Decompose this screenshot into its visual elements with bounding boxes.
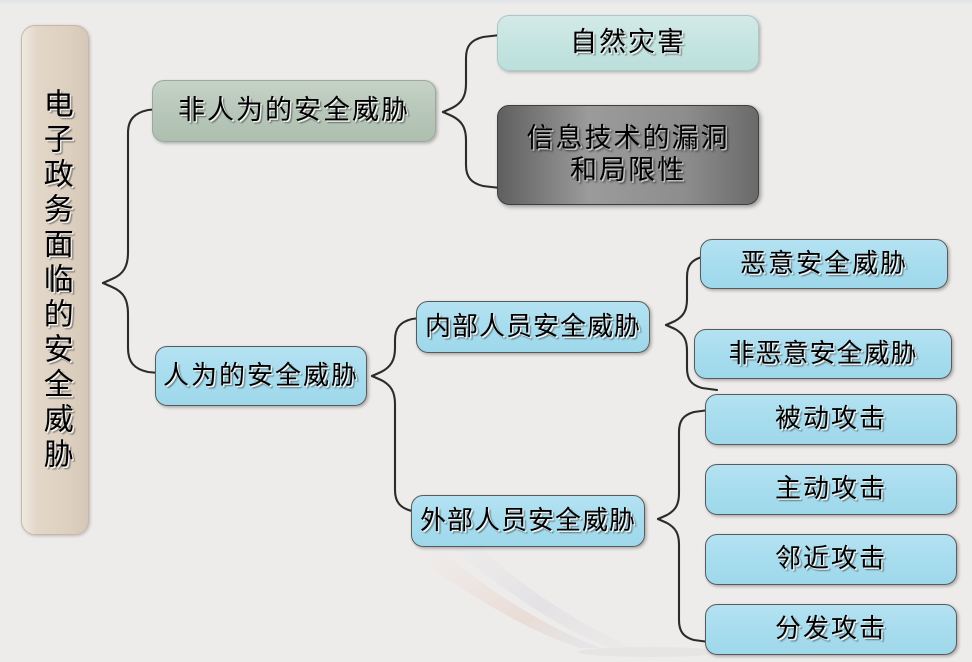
node-malicious-threat[interactable]: 恶意安全威胁	[700, 239, 948, 289]
slide-top-strip	[0, 0, 972, 5]
brace-nonhuman-to-it-vulnerability	[443, 112, 500, 188]
node-non-human-threat[interactable]: 非人为的安全威胁	[152, 80, 436, 142]
it-vulnerability-line-1: 信息技术的漏洞	[527, 123, 730, 155]
node-internal-personnel-threat[interactable]: 内部人员安全威胁	[416, 301, 650, 353]
node-passive-attack[interactable]: 被动攻击	[705, 394, 957, 445]
root-node[interactable]: 电子政务面临的安全威胁	[21, 25, 89, 535]
brace-external-to-passive-attack	[658, 410, 709, 519]
node-external-personnel-threat[interactable]: 外部人员安全威胁	[411, 495, 645, 547]
it-vulnerability-line-2: 和局限性	[570, 155, 686, 187]
node-non-malicious-threat[interactable]: 非恶意安全威胁	[694, 329, 952, 379]
brace-nonhuman-to-natural-disaster	[443, 35, 500, 112]
node-natural-disaster[interactable]: 自然灾害	[497, 15, 759, 71]
diagram-canvas: 电子政务面临的安全威胁 非人为的安全威胁 人为的安全威胁 自然灾害 信息技术的漏…	[0, 0, 972, 662]
brace-external-to-distribution-attack	[658, 519, 709, 642]
node-close-in-attack[interactable]: 邻近攻击	[705, 534, 957, 585]
node-active-attack[interactable]: 主动攻击	[705, 464, 957, 515]
node-it-vulnerability[interactable]: 信息技术的漏洞 和局限性	[497, 105, 759, 205]
node-distribution-attack[interactable]: 分发攻击	[705, 604, 957, 655]
brace-human-to-external	[372, 376, 428, 513]
node-human-threat[interactable]: 人为的安全威胁	[155, 346, 367, 406]
